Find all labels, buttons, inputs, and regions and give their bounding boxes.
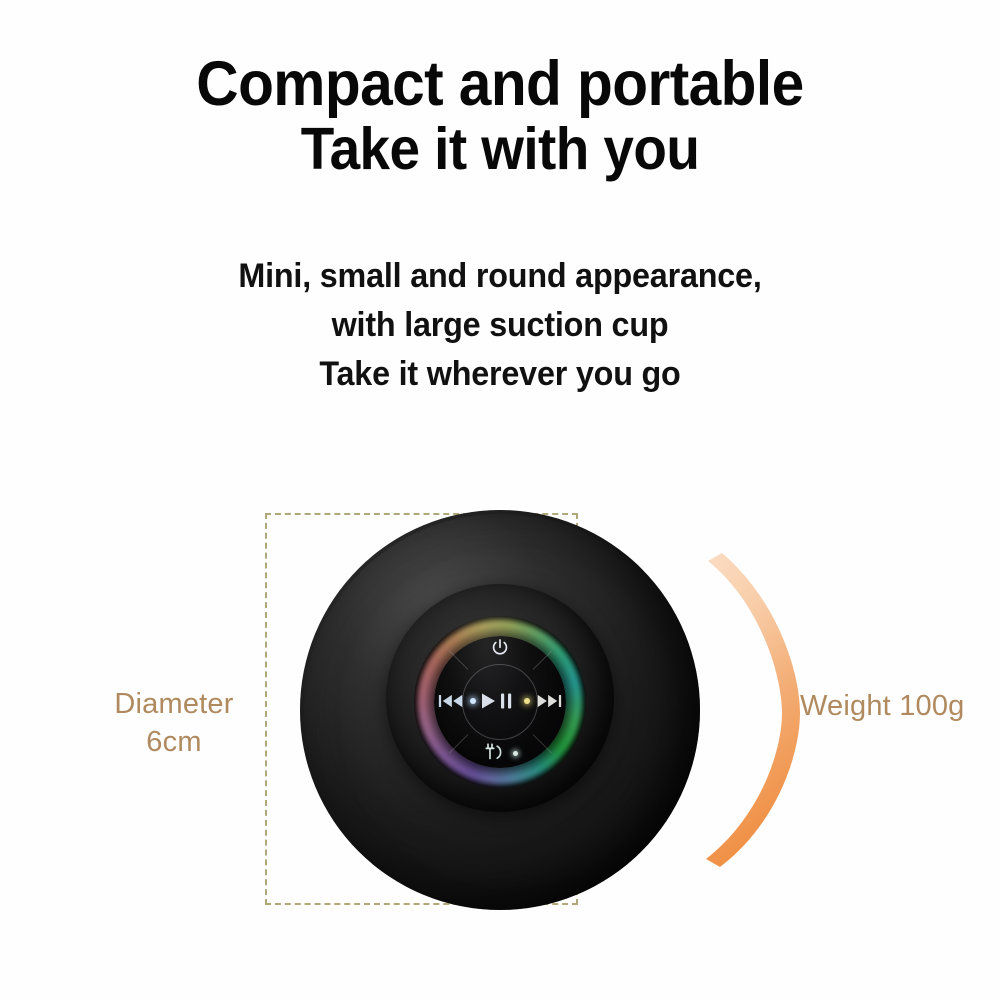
play-pause-icon (481, 692, 519, 710)
diameter-label: Diameter 6cm (88, 686, 260, 761)
headline-line-1: Compact and portable (35, 52, 965, 116)
subtitle-block: Mini, small and round appearance, with l… (0, 252, 1000, 399)
page-title: Compact and portable Take it with you (0, 52, 1000, 179)
light-mode-button[interactable] (478, 740, 522, 766)
next-track-button[interactable] (534, 688, 564, 714)
product-feature-image: Compact and portable Take it with you Mi… (0, 0, 1000, 1000)
forward-icon (536, 693, 562, 709)
power-icon (489, 637, 511, 659)
subtitle-line-2: with large suction cup (25, 301, 975, 350)
led-indicator-left (470, 698, 476, 704)
subtitle-line-1: Mini, small and round appearance, (25, 252, 975, 301)
power-button[interactable] (486, 634, 514, 662)
weight-accent-arc (700, 545, 810, 875)
headline-line-2: Take it with you (35, 119, 965, 179)
diameter-value-text: 6cm (88, 724, 260, 762)
led-indicator-light (513, 751, 518, 756)
weight-label: Weight 100g (800, 688, 1000, 726)
lamp-icon (483, 742, 507, 764)
control-panel[interactable] (414, 616, 586, 788)
diameter-label-text: Diameter (114, 688, 233, 720)
play-pause-button[interactable] (468, 690, 532, 712)
rewind-icon (438, 693, 464, 709)
subtitle-line-3: Take it wherever you go (25, 350, 975, 399)
previous-track-button[interactable] (436, 688, 466, 714)
led-indicator-right (524, 698, 530, 704)
speaker-product-image (300, 510, 700, 910)
accent-arc-icon (700, 545, 810, 875)
